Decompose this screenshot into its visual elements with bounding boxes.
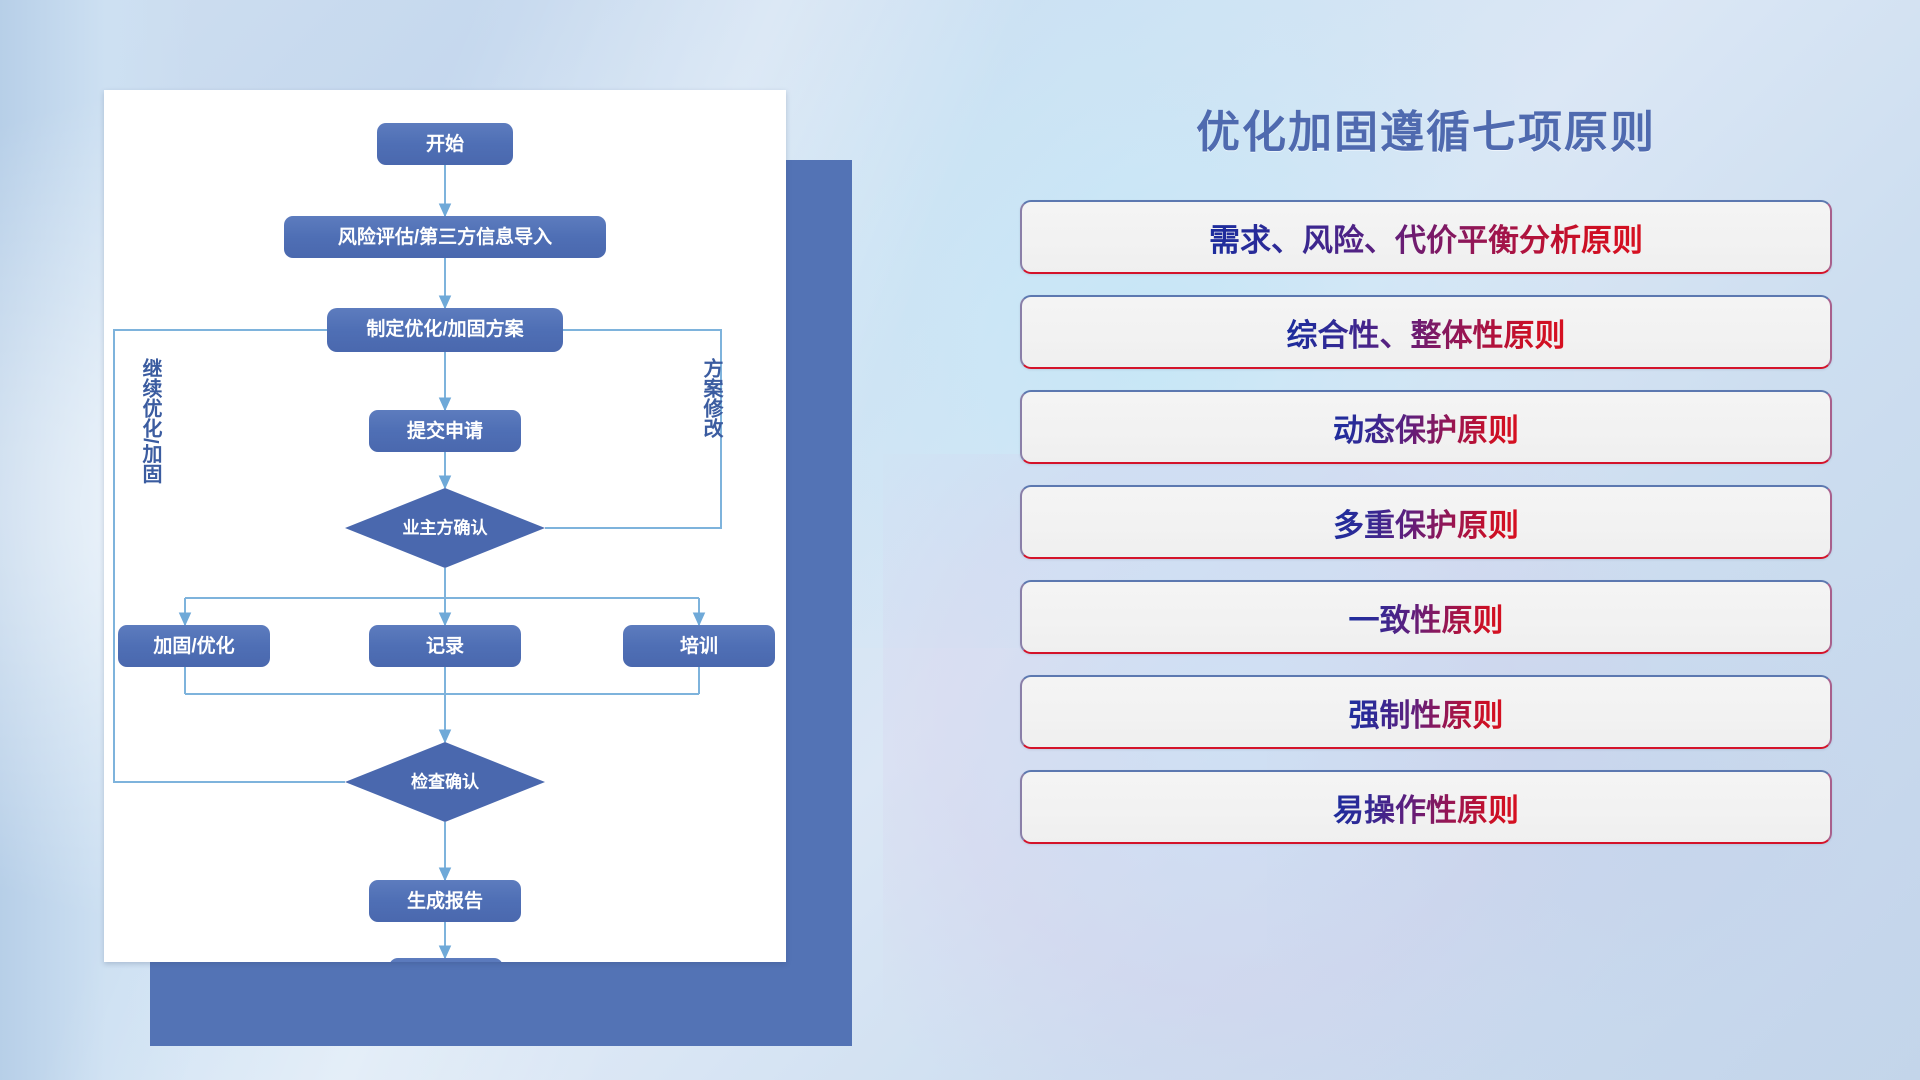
flow-connectors bbox=[114, 165, 721, 958]
flow-node-end[interactable]: 结束 bbox=[389, 958, 503, 962]
principle-card-2-label: 综合性、整体性原则 bbox=[1287, 310, 1566, 355]
principles-list: 需求、风险、代价平衡分析原则 综合性、整体性原则 动态保护原则 多重保护原则 一… bbox=[1020, 200, 1832, 844]
flow-node-submit-label: 提交申请 bbox=[407, 419, 483, 442]
flow-node-training[interactable]: 培训 bbox=[623, 625, 775, 667]
principle-card-1[interactable]: 需求、风险、代价平衡分析原则 bbox=[1020, 200, 1832, 274]
principle-card-5-label: 一致性原则 bbox=[1349, 595, 1504, 640]
flow-edge-label-continue-optimize: 继续优化/加固 bbox=[139, 357, 163, 484]
flow-node-reinforce[interactable]: 加固/优化 bbox=[118, 625, 270, 667]
flow-node-plan[interactable]: 制定优化/加固方案 bbox=[327, 308, 563, 352]
principle-card-1-label: 需求、风险、代价平衡分析原则 bbox=[1209, 215, 1643, 260]
principles-title: 优化加固遵循七项原则 bbox=[1020, 96, 1832, 160]
flow-node-training-label: 培训 bbox=[680, 634, 718, 657]
principle-card-7[interactable]: 易操作性原则 bbox=[1020, 770, 1832, 844]
flow-node-plan-label: 制定优化/加固方案 bbox=[366, 317, 524, 340]
flow-node-owner-confirm[interactable]: 业主方确认 bbox=[345, 488, 545, 568]
flowchart-diagram: 开始 风险评估/第三方信息导入 制定优化/加固方案 提交申请 业主方确认 加固/… bbox=[104, 90, 786, 962]
flow-node-record[interactable]: 记录 bbox=[369, 625, 521, 667]
flow-node-submit[interactable]: 提交申请 bbox=[369, 410, 521, 452]
flow-node-inspect-label: 检查确认 bbox=[411, 771, 480, 791]
principle-card-4[interactable]: 多重保护原则 bbox=[1020, 485, 1832, 559]
flow-node-owner-confirm-label: 业主方确认 bbox=[403, 517, 489, 537]
principle-card-6-label: 强制性原则 bbox=[1349, 690, 1504, 735]
flow-edge-label-plan-revision: 方案修改 bbox=[700, 357, 724, 439]
principle-card-7-label: 易操作性原则 bbox=[1333, 785, 1519, 830]
principle-card-4-label: 多重保护原则 bbox=[1333, 500, 1519, 545]
principles-panel: 优化加固遵循七项原则 需求、风险、代价平衡分析原则 综合性、整体性原则 动态保护… bbox=[1020, 96, 1832, 1016]
flow-node-start-label: 开始 bbox=[426, 132, 464, 155]
flow-node-risk-assessment[interactable]: 风险评估/第三方信息导入 bbox=[284, 216, 606, 258]
flowchart-panel: 开始 风险评估/第三方信息导入 制定优化/加固方案 提交申请 业主方确认 加固/… bbox=[104, 90, 786, 962]
principle-card-3-label: 动态保护原则 bbox=[1333, 405, 1519, 450]
flow-node-report-label: 生成报告 bbox=[407, 889, 483, 912]
flow-node-record-label: 记录 bbox=[426, 635, 464, 657]
principle-card-2[interactable]: 综合性、整体性原则 bbox=[1020, 295, 1832, 369]
principle-card-3[interactable]: 动态保护原则 bbox=[1020, 390, 1832, 464]
flow-node-report[interactable]: 生成报告 bbox=[369, 880, 521, 922]
flow-node-inspect[interactable]: 检查确认 bbox=[345, 742, 545, 822]
flow-node-reinforce-label: 加固/优化 bbox=[152, 634, 234, 657]
principle-card-5[interactable]: 一致性原则 bbox=[1020, 580, 1832, 654]
flow-node-risk-assessment-label: 风险评估/第三方信息导入 bbox=[338, 225, 552, 248]
principle-card-6[interactable]: 强制性原则 bbox=[1020, 675, 1832, 749]
flow-node-start[interactable]: 开始 bbox=[377, 123, 513, 165]
